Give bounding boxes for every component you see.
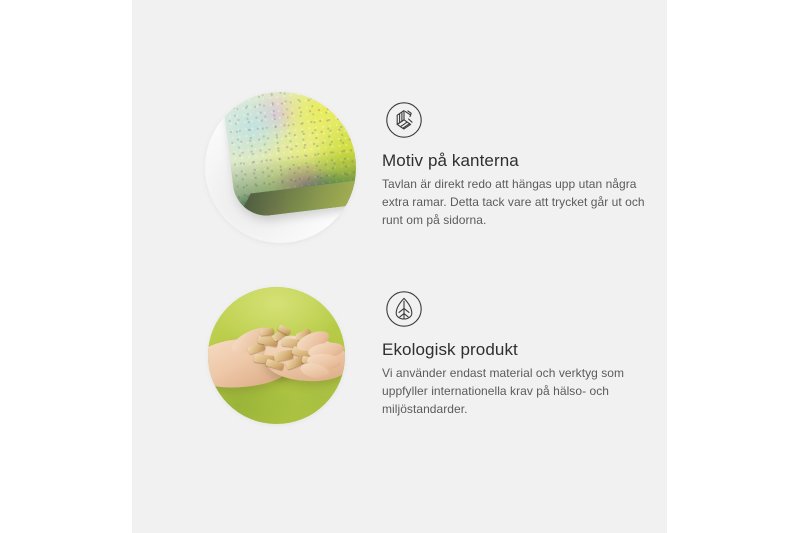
feature-block-motiv-pa-kanterna: Motiv på kanterna Tavlan är direkt redo … (132, 92, 667, 252)
leaf-icon (382, 287, 426, 331)
feature-copy-ekologisk-produkt: Ekologisk produkt Vi använder endast mat… (382, 287, 667, 419)
feature-block-ekologisk-produkt: Ekologisk produkt Vi använder endast mat… (132, 287, 667, 427)
feature-title: Motiv på kanterna (382, 151, 662, 171)
canvas-print-block (222, 92, 356, 219)
feature-copy-motiv-pa-kanterna: Motiv på kanterna Tavlan är direkt redo … (382, 98, 662, 230)
feature-image-wood-chips (208, 287, 345, 424)
canvas-sheen (222, 92, 356, 219)
feature-body: Vi använder endast material och verktyg … (382, 365, 667, 418)
feature-title: Ekologisk produkt (382, 340, 667, 360)
canvas-edge-print-icon (382, 98, 426, 142)
feature-image-canvas-corner (205, 92, 356, 243)
product-feature-infographic: Motiv på kanterna Tavlan är direkt redo … (0, 0, 800, 533)
feature-body: Tavlan är direkt redo att hängas upp uta… (382, 176, 662, 229)
content-panel: Motiv på kanterna Tavlan är direkt redo … (132, 0, 667, 533)
